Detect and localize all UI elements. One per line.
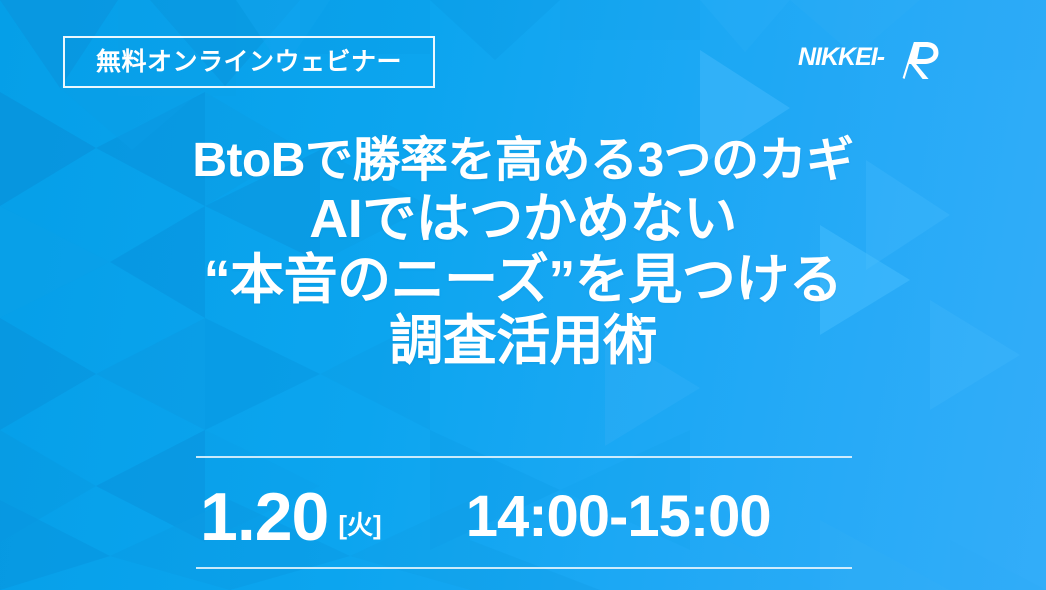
divider-bottom — [196, 567, 852, 569]
free-webinar-badge-label: 無料オンラインウェビナー — [96, 50, 402, 75]
webinar-title: BtoBで勝率を高める3つのカギ AIではつかめない “本音のニーズ”を見つける… — [0, 136, 1046, 371]
event-day-of-week: [火] — [338, 512, 381, 538]
webinar-banner: 無料オンラインウェビナー NIKKEI- NIKKEI-R BtoBで勝率を高め… — [0, 0, 1046, 590]
title-line-3: “本音のニーズ”を見つける — [0, 252, 1046, 309]
free-webinar-badge: 無料オンラインウェビナー — [63, 36, 435, 88]
nikkei-r-logo: NIKKEI- NIKKEI-R — [798, 38, 950, 82]
divider-top — [196, 456, 852, 458]
title-line-1: BtoBで勝率を高める3つのカギ — [0, 136, 1046, 187]
date-group: 1.20 [火] — [200, 483, 382, 551]
title-line-2: AIではつかめない — [0, 191, 1046, 248]
schedule-row: 1.20 [火] 14:00-15:00 — [196, 470, 852, 564]
event-date: 1.20 — [200, 483, 328, 551]
title-line-4: 調査活用術 — [0, 313, 1046, 370]
svg-text:NIKKEI-: NIKKEI- — [798, 43, 885, 71]
event-time: 14:00-15:00 — [466, 488, 771, 546]
